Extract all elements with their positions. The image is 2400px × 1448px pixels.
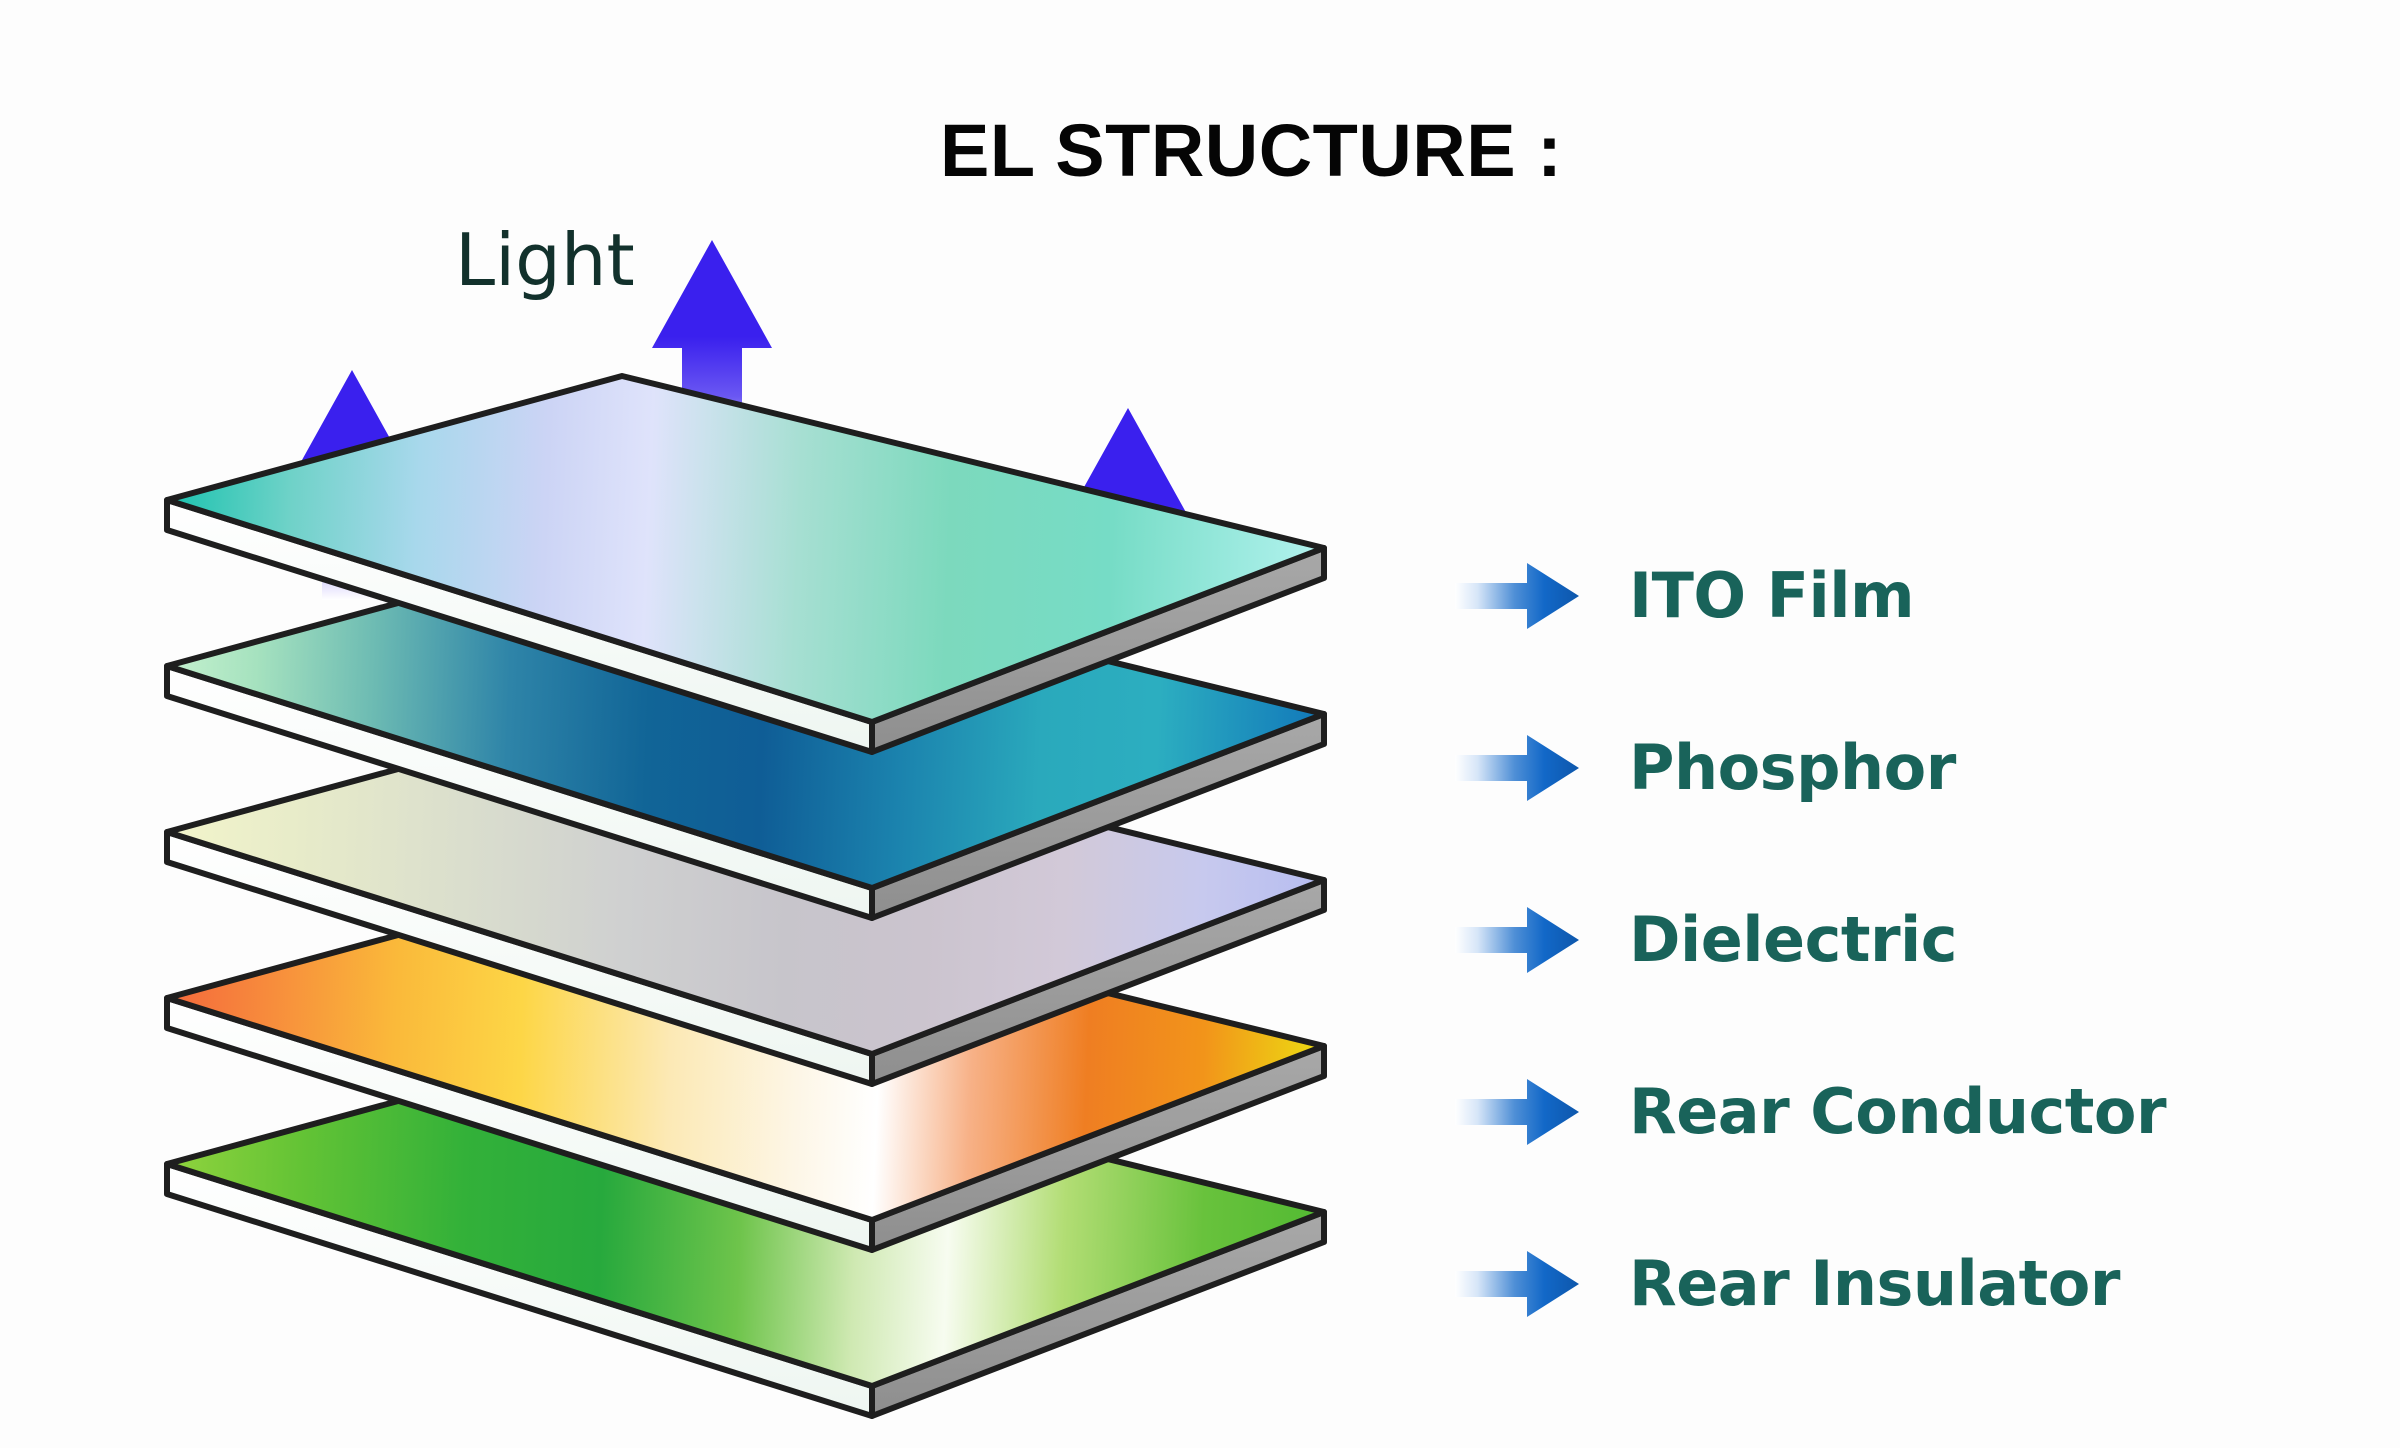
legend-item-phosphor[interactable]: Phosphor xyxy=(1455,682,2395,854)
right-arrow-icon xyxy=(1455,733,1579,803)
right-arrow-icon xyxy=(1455,1249,1579,1319)
legend-label: Rear Conductor xyxy=(1629,1081,2166,1143)
legend-label: ITO Film xyxy=(1629,565,1914,627)
legend-label: Dielectric xyxy=(1629,909,1957,971)
legend-label: Rear Insulator xyxy=(1629,1253,2120,1315)
right-arrow-icon xyxy=(1455,905,1579,975)
el-structure-diagram: EL STRUCTURE : Light xyxy=(0,0,2400,1448)
right-arrow-icon xyxy=(1455,561,1579,631)
layer-legend: ITO Film Phosphor xyxy=(1455,510,2395,1370)
legend-item-ito-film[interactable]: ITO Film xyxy=(1455,510,2395,682)
legend-label: Phosphor xyxy=(1629,737,1956,799)
right-arrow-icon xyxy=(1455,1077,1579,1147)
legend-item-rear-conductor[interactable]: Rear Conductor xyxy=(1455,1026,2395,1198)
legend-item-dielectric[interactable]: Dielectric xyxy=(1455,854,2395,1026)
legend-item-rear-insulator[interactable]: Rear Insulator xyxy=(1455,1198,2395,1370)
